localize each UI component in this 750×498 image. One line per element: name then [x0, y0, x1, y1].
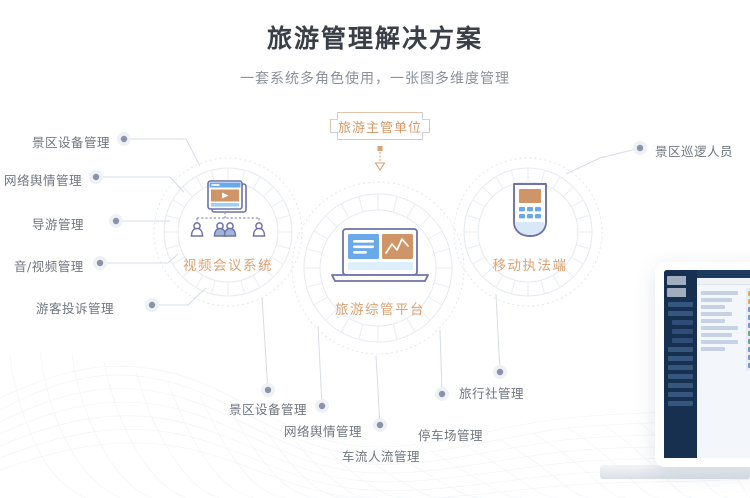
dashboard-menu-item	[668, 347, 693, 352]
node-video-conference[interactable]: 视频会议系统	[168, 178, 288, 274]
dashboard-menu-item	[668, 356, 693, 361]
bottom-label-1[interactable]: 网络舆情管理	[284, 421, 362, 440]
node-mobile-enforcement[interactable]: 移动执法端	[470, 180, 590, 274]
status-badge[interactable]: 旅游主管单位	[330, 112, 430, 140]
dashboard-row	[701, 298, 732, 302]
badge-corner-br	[422, 132, 430, 140]
badge-corner-bl	[330, 132, 338, 140]
dashboard-row	[701, 312, 732, 316]
infographic-canvas: 旅游管理解决方案 一套系统多角色使用，一张图多维度管理	[0, 0, 750, 498]
dashboard-row	[701, 291, 738, 295]
dashboard-topbar	[697, 270, 750, 278]
dashboard-menu-item	[668, 365, 693, 370]
left-label-2[interactable]: 导游管理	[32, 214, 84, 233]
dashboard-sidebar	[664, 270, 697, 458]
node-label: 移动执法端	[470, 254, 590, 274]
bottom-label-3[interactable]: 停车场管理	[418, 425, 483, 444]
bottom-label-0[interactable]: 景区设备管理	[229, 399, 307, 418]
laptop-dashboard-icon	[305, 226, 455, 288]
dashboard-menu-item	[672, 320, 693, 325]
left-label-4[interactable]: 游客投诉管理	[36, 298, 114, 317]
node-label: 旅游综管平台	[305, 298, 455, 318]
authority-badge-wrap: 旅游主管单位	[330, 112, 430, 140]
dashboard-menu-item	[668, 383, 693, 388]
dashboard-row	[701, 340, 738, 344]
badge-corner-tl	[330, 112, 338, 120]
dashboard-device-mockup[interactable]	[655, 262, 750, 467]
dashboard-row	[701, 319, 725, 323]
dashboard-content	[697, 270, 750, 458]
dashboard-body	[697, 285, 750, 374]
dashboard-menu-item	[668, 392, 693, 397]
dashboard-row	[701, 347, 725, 351]
dashboard-row	[701, 333, 732, 337]
dashboard-menu-item	[668, 311, 693, 316]
left-label-1[interactable]: 网络舆情管理	[4, 170, 82, 189]
dashboard-toolbar	[697, 278, 750, 285]
laptop-base	[600, 465, 750, 479]
page-subtitle: 一套系统多角色使用，一张图多维度管理	[0, 68, 750, 88]
dashboard-brand-sub	[667, 288, 694, 297]
handheld-terminal-icon	[470, 180, 590, 244]
video-conference-icon	[168, 178, 288, 244]
header: 旅游管理解决方案 一套系统多角色使用，一张图多维度管理	[0, 22, 750, 88]
dashboard-screen	[664, 270, 750, 458]
dashboard-tree	[700, 288, 744, 371]
dashboard-menu-item	[672, 329, 693, 334]
right-connector-lines	[566, 148, 640, 174]
dashboard-brand	[667, 276, 694, 285]
dashboard-row	[701, 305, 725, 309]
node-label: 视频会议系统	[168, 254, 288, 274]
dashboard-menu-item	[672, 338, 693, 343]
bottom-label-2[interactable]: 车流人流管理	[342, 446, 420, 465]
badge-corner-tr	[422, 112, 430, 120]
dashboard-row	[701, 326, 738, 330]
dashboard-icon-rail	[746, 288, 750, 371]
badge-label: 旅游主管单位	[338, 117, 422, 136]
page-title: 旅游管理解决方案	[0, 22, 750, 56]
dashboard-menu-item	[668, 374, 693, 379]
down-arrow-icon	[372, 146, 388, 172]
bottom-label-4[interactable]: 旅行社管理	[459, 383, 524, 402]
left-label-3[interactable]: 音/视频管理	[14, 256, 84, 275]
left-label-0[interactable]: 景区设备管理	[32, 132, 110, 151]
dashboard-menu-item	[668, 302, 693, 307]
right-label-0[interactable]: 景区巡逻人员	[655, 141, 733, 160]
dashboard-menu-item	[668, 401, 693, 406]
node-comprehensive-platform[interactable]: 旅游综管平台	[305, 226, 455, 318]
